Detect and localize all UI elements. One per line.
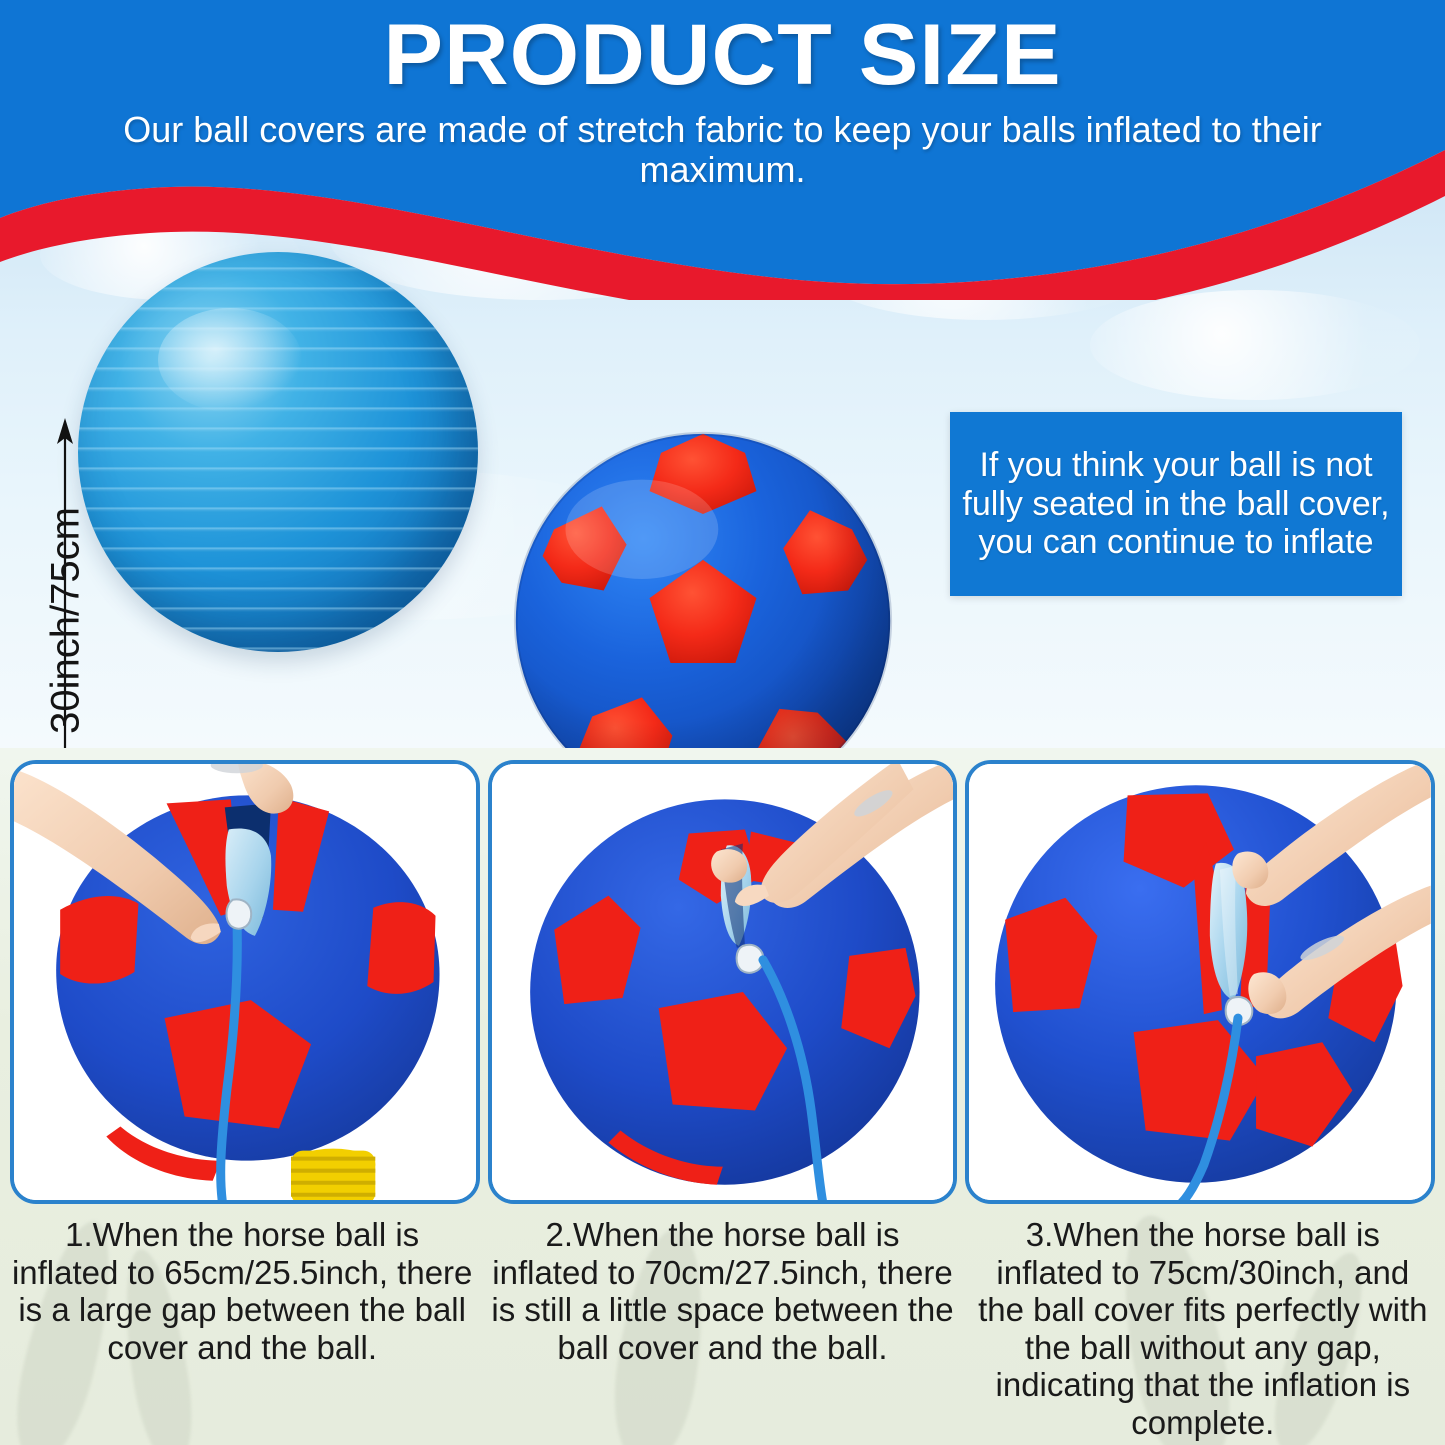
steps-photo-row [0, 748, 1445, 1208]
inflate-tip-text: If you think your ball is not fully seat… [950, 446, 1402, 562]
step-3-perfect-fit-photo [969, 764, 1431, 1200]
step-2-caption: 2.When the horse ball is inflated to 70c… [486, 1208, 958, 1445]
header-wave-svg [0, 0, 1445, 300]
exercise-ball-highlight [158, 308, 302, 412]
steps-section: 1.When the horse ball is inflated to 65c… [0, 748, 1445, 1445]
steps-caption-row: 1.When the horse ball is inflated to 65c… [0, 1208, 1445, 1445]
vertical-dimension-label: 30inch/75cm [44, 421, 89, 751]
blue-exercise-ball [78, 252, 478, 652]
soccer-ball-svg [512, 430, 894, 750]
inflate-tip-callout: If you think your ball is not fully seat… [950, 412, 1402, 596]
vertical-dimension-arrow: 30inch/75cm [52, 418, 78, 750]
step-3-caption: 3.When the horse ball is inflated to 75c… [967, 1208, 1439, 1445]
step-1-loose-cover-photo [14, 764, 476, 1200]
cloud-shape [1090, 290, 1420, 400]
header-banner: PRODUCT SIZE Our ball covers are made of… [0, 0, 1445, 300]
step-2-little-space-photo [492, 764, 954, 1200]
step-1-photo-panel[interactable] [10, 760, 480, 1204]
soccer-ball-cover [512, 430, 894, 750]
step-1-caption: 1.When the horse ball is inflated to 65c… [6, 1208, 478, 1445]
step-2-photo-panel[interactable] [488, 760, 958, 1204]
step-3-photo-panel[interactable] [965, 760, 1435, 1204]
product-size-infographic: 30inch/75cm 30inch/75cm PRODUCT SIZE Our… [0, 0, 1445, 1445]
